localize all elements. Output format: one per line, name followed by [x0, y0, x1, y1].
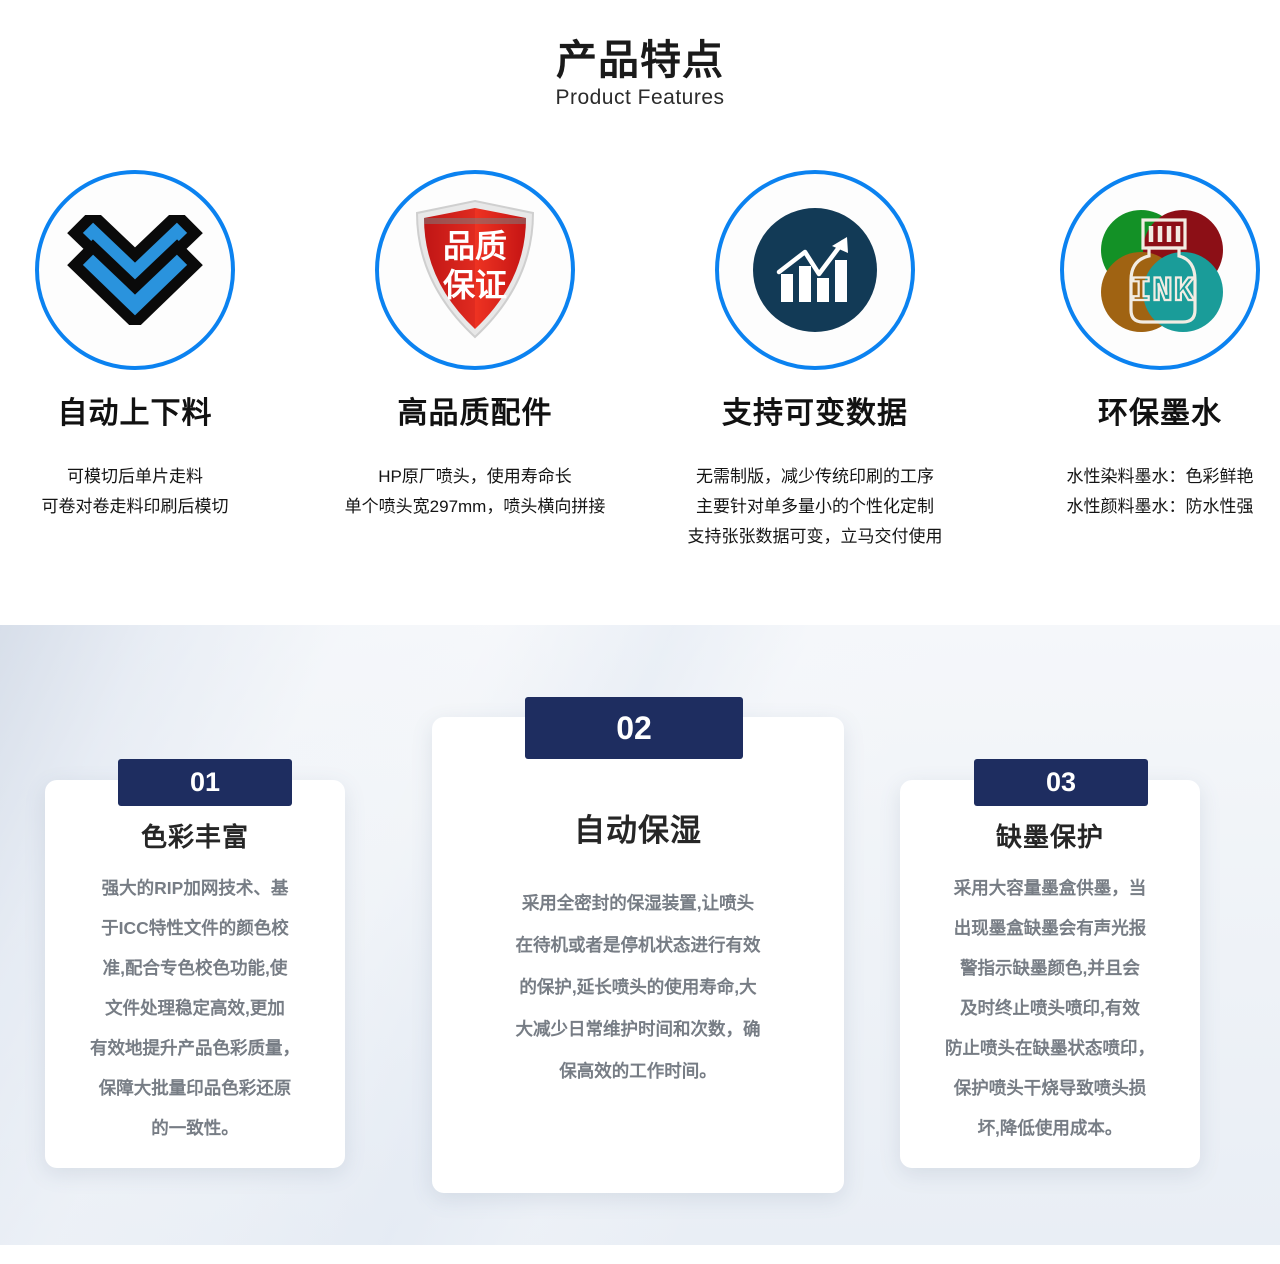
card-title: 缺墨保护 [900, 817, 1200, 854]
feature-title: 高品质配件 [325, 388, 625, 432]
feature-desc-line: HP原厂喷头，使用寿命长 [325, 462, 625, 492]
quality-shield-icon: 品质 保证 [400, 195, 550, 345]
double-chevron-down-icon [65, 215, 205, 325]
card-body-line: 准,配合专色校色功能,使 [61, 948, 329, 988]
card-body-line: 大减少日常维护时间和次数，确 [456, 1008, 820, 1050]
feature-description: HP原厂喷头，使用寿命长 单个喷头宽297mm，喷头横向拼接 [325, 462, 625, 522]
svg-text:保证: 保证 [443, 267, 507, 303]
highlight-card-03: 缺墨保护 采用大容量墨盒供墨，当 出现墨盒缺墨会有声光报 警指示缺墨颜色,并且会… [900, 780, 1200, 1168]
feature-desc-line: 可模切后单片走料 [0, 462, 285, 492]
feature-desc-line: 水性染料墨水：色彩鲜艳 [1010, 462, 1280, 492]
feature-desc-line: 水性颜料墨水：防水性强 [1010, 492, 1280, 522]
card-body-line: 出现墨盒缺墨会有声光报 [916, 908, 1184, 948]
card-body-line: 保高效的工作时间。 [456, 1050, 820, 1092]
feature-description: 无需制版，减少传统印刷的工序 主要针对单多量小的个性化定制 支持张张数据可变，立… [665, 462, 965, 552]
card-body-line: 警指示缺墨颜色,并且会 [916, 948, 1184, 988]
card-body-line: 保护喷头干烧导致喷头损 [916, 1068, 1184, 1108]
card-body-line: 保障大批量印品色彩还原 [61, 1068, 329, 1108]
feature-title: 自动上下料 [0, 388, 285, 432]
feature-description: 水性染料墨水：色彩鲜艳 水性颜料墨水：防水性强 [1010, 462, 1280, 522]
card-body-line: 的保护,延长喷头的使用寿命,大 [456, 966, 820, 1008]
card-body-line: 在待机或者是停机状态进行有效 [456, 924, 820, 966]
card-body: 强大的RIP加网技术、基 于ICC特性文件的颜色校 准,配合专色校色功能,使 文… [45, 868, 345, 1148]
page-subtitle: Product Features [0, 86, 1280, 110]
growth-chart-icon [753, 208, 877, 332]
feature-title: 支持可变数据 [665, 388, 965, 432]
card-number-badge-02: 02 [525, 697, 743, 759]
feature-icon-circle [35, 170, 235, 370]
feature-icon-circle: 品质 保证 [375, 170, 575, 370]
card-body-line: 防止喷头在缺墨状态喷印， [916, 1028, 1184, 1068]
feature-item-variable-data: 支持可变数据 无需制版，减少传统印刷的工序 主要针对单多量小的个性化定制 支持张… [665, 170, 965, 552]
card-body-line: 于ICC特性文件的颜色校 [61, 908, 329, 948]
feature-desc-line: 无需制版，减少传统印刷的工序 [665, 462, 965, 492]
highlight-card-01: 色彩丰富 强大的RIP加网技术、基 于ICC特性文件的颜色校 准,配合专色校色功… [45, 780, 345, 1168]
highlight-card-02: 自动保湿 采用全密封的保湿装置,让喷头 在待机或者是停机状态进行有效 的保护,延… [432, 717, 844, 1193]
feature-description: 可模切后单片走料 可卷对卷走料印刷后模切 [0, 462, 285, 522]
card-body: 采用全密封的保湿装置,让喷头 在待机或者是停机状态进行有效 的保护,延长喷头的使… [432, 882, 844, 1092]
bottom-spacer [0, 1245, 1280, 1264]
card-body-line: 采用全密封的保湿装置,让喷头 [456, 882, 820, 924]
card-body: 采用大容量墨盒供墨，当 出现墨盒缺墨会有声光报 警指示缺墨颜色,并且会 及时终止… [900, 868, 1200, 1148]
feature-desc-line: 单个喷头宽297mm，喷头横向拼接 [325, 492, 625, 522]
card-number-badge-03: 03 [974, 759, 1148, 806]
card-body-line: 文件处理稳定高效,更加 [61, 988, 329, 1028]
feature-icon-circle: INK [1060, 170, 1260, 370]
card-body-line: 坏,降低使用成本。 [916, 1108, 1184, 1148]
feature-desc-line: 支持张张数据可变，立马交付使用 [665, 522, 965, 552]
feature-item-auto-feeding: 自动上下料 可模切后单片走料 可卷对卷走料印刷后模切 [0, 170, 285, 522]
svg-text:INK: INK [1131, 273, 1195, 311]
card-body-line: 的一致性。 [61, 1108, 329, 1148]
card-title: 色彩丰富 [45, 817, 345, 854]
card-number-badge-01: 01 [118, 759, 292, 806]
card-title: 自动保湿 [432, 805, 844, 850]
page-title: 产品特点 [0, 26, 1280, 86]
feature-icon-circle [715, 170, 915, 370]
feature-desc-line: 主要针对单多量小的个性化定制 [665, 492, 965, 522]
svg-text:品质: 品质 [443, 228, 507, 264]
card-body-line: 及时终止喷头喷印,有效 [916, 988, 1184, 1028]
card-body-line: 强大的RIP加网技术、基 [61, 868, 329, 908]
product-features-page: 产品特点 Product Features 自动上下料 [0, 0, 1280, 1264]
features-top-section: 产品特点 Product Features 自动上下料 [0, 0, 1280, 625]
feature-item-eco-ink: INK 环保墨水 水性染料墨水：色彩鲜艳 水性颜料墨水：防水性强 [1010, 170, 1280, 522]
feature-item-quality-parts: 品质 保证 高品质配件 HP原厂喷头，使用寿命长 单个喷头宽297mm，喷头横向… [325, 170, 625, 522]
feature-desc-line: 可卷对卷走料印刷后模切 [0, 492, 285, 522]
feature-title: 环保墨水 [1010, 388, 1280, 432]
card-body-line: 采用大容量墨盒供墨，当 [916, 868, 1184, 908]
card-body-line: 有效地提升产品色彩质量， [61, 1028, 329, 1068]
ink-cartridge-icon: INK [1085, 200, 1235, 340]
